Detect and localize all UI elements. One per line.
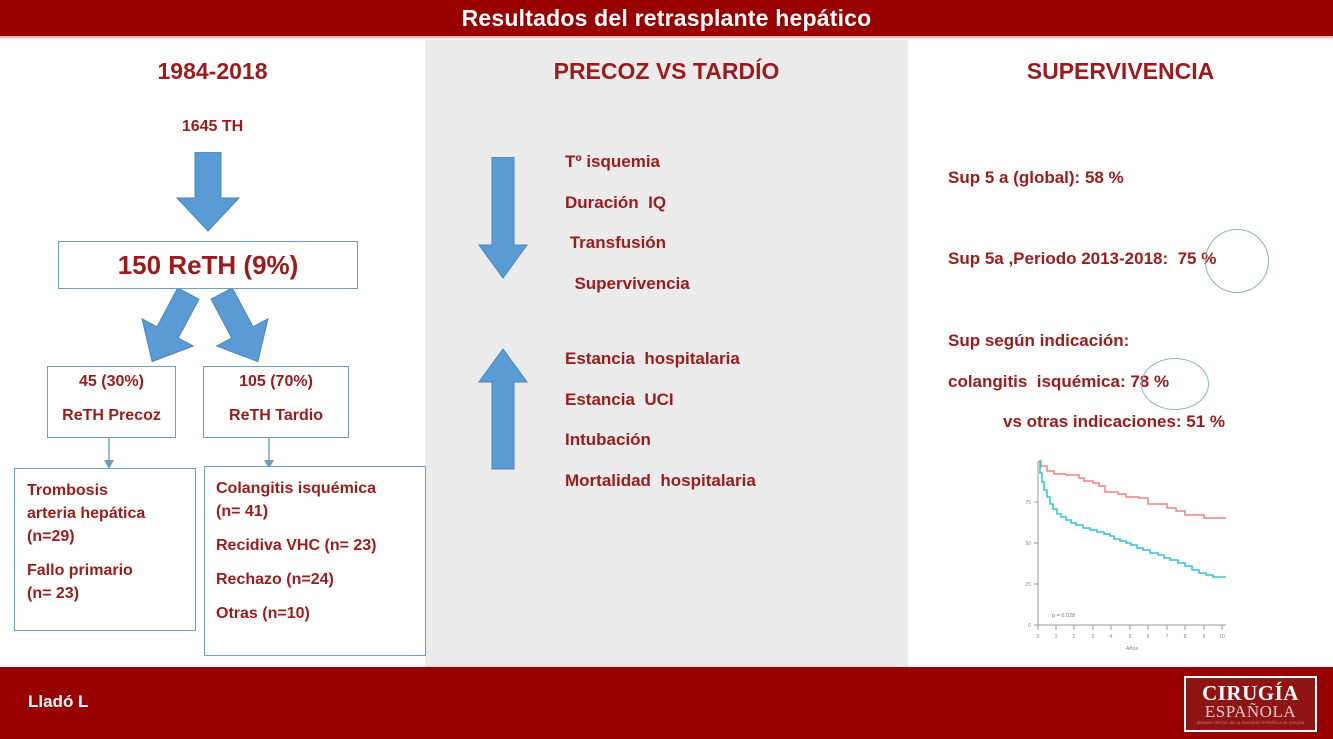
precoz-cause-line: (n= 23) bbox=[27, 582, 185, 605]
logo-line-3: ÓRGANO OFICIAL DE LA SOCIEDAD ESPAÑOLA D… bbox=[1197, 720, 1305, 726]
decrease-parameter-item: Duración IQ bbox=[565, 183, 690, 224]
right-column-heading: SUPERVIVENCIA bbox=[908, 58, 1333, 85]
tardio-cause-line: Rechazo (n=24) bbox=[216, 568, 415, 591]
svg-text:0: 0 bbox=[1037, 634, 1040, 640]
chart-series-colangitis bbox=[1039, 461, 1226, 518]
svg-text:50: 50 bbox=[1025, 541, 1031, 547]
highlight-ellipse-75 bbox=[1205, 229, 1269, 293]
svg-text:1: 1 bbox=[1055, 634, 1058, 640]
tardio-cause-line: (n= 41) bbox=[216, 500, 415, 523]
svg-text:6: 6 bbox=[1147, 634, 1150, 640]
increase-parameter-list: Estancia hospitalaria Estancia UCI Intub… bbox=[565, 339, 756, 501]
svg-text:75: 75 bbox=[1025, 500, 1031, 506]
tardio-cause-line: Recidiva VHC (n= 23) bbox=[216, 534, 415, 557]
survival-colangitis-line: colangitis isquémica: 78 % bbox=[948, 372, 1169, 392]
survival-others-line: vs otras indicaciones: 51 % bbox=[1003, 412, 1225, 432]
connector-arrow-precoz bbox=[102, 438, 116, 470]
reth-tardio-label: ReTH Tardio bbox=[204, 407, 348, 425]
increase-parameter-item: Estancia UCI bbox=[565, 380, 756, 421]
slide-title-bar: Resultados del retrasplante hepático bbox=[0, 0, 1333, 36]
reth-total-box: 150 ReTH (9%) bbox=[58, 241, 358, 289]
tardio-cause-line: Colangitis isquémica bbox=[216, 477, 415, 500]
increase-parameter-item: Estancia hospitalaria bbox=[565, 339, 756, 380]
svg-text:7: 7 bbox=[1166, 634, 1169, 640]
page-title: Resultados del retrasplante hepático bbox=[462, 5, 872, 32]
svg-text:3: 3 bbox=[1092, 634, 1095, 640]
precoz-cause-line: Trombosis bbox=[27, 479, 185, 502]
decrease-parameter-list: Tº isquemia Duración IQ Transfusión Supe… bbox=[565, 142, 690, 304]
reth-total-label: 150 ReTH (9%) bbox=[118, 250, 299, 281]
precoz-cause-line: (n=29) bbox=[27, 525, 185, 548]
reth-precoz-count: 45 (30%) bbox=[48, 373, 175, 391]
left-column-heading: 1984-2018 bbox=[0, 58, 425, 85]
survival-indication-heading: Sup según indicación: bbox=[948, 331, 1129, 351]
down-arrow-decrease bbox=[478, 157, 528, 279]
up-arrow-increase bbox=[478, 348, 528, 470]
reth-precoz-box: 45 (30%) ReTH Precoz bbox=[47, 366, 176, 438]
decrease-parameter-item: Tº isquemia bbox=[565, 142, 690, 183]
precoz-cause-line: arteria hepática bbox=[27, 502, 185, 525]
increase-parameter-item: Mortalidad hospitalaria bbox=[565, 461, 756, 502]
increase-parameter-item: Intubación bbox=[565, 420, 756, 461]
survival-chart-svg: 0 25 50 75 0 1 2 3 4 5 bbox=[1000, 449, 1236, 661]
survival-global-line: Sup 5 a (global): 58 % bbox=[948, 168, 1124, 188]
survival-chart: 0 25 50 75 0 1 2 3 4 5 bbox=[1000, 449, 1236, 661]
total-transplants-label: 1645 TH bbox=[0, 118, 425, 136]
logo-line-2: ESPAÑOLA bbox=[1205, 703, 1296, 720]
cirugia-espanola-logo: CIRUGÍA ESPAÑOLA ÓRGANO OFICIAL DE LA SO… bbox=[1184, 676, 1317, 732]
chart-x-axis-label: Años bbox=[1126, 646, 1139, 652]
chart-series-otras bbox=[1039, 461, 1226, 577]
svg-text:25: 25 bbox=[1025, 582, 1031, 588]
svg-text:2: 2 bbox=[1073, 634, 1076, 640]
chart-pvalue-annotation: p = 0.028 bbox=[1052, 613, 1075, 619]
svg-text:8: 8 bbox=[1184, 634, 1187, 640]
footer-author: Lladó L bbox=[28, 692, 88, 712]
chart-y-ticks: 0 25 50 75 bbox=[1025, 500, 1038, 629]
down-right-branch-arrow bbox=[205, 289, 275, 367]
decrease-parameter-item: Transfusión bbox=[565, 223, 690, 264]
reth-precoz-label: ReTH Precoz bbox=[48, 407, 175, 425]
precoz-cause-line: Fallo primario bbox=[27, 559, 185, 582]
svg-text:10: 10 bbox=[1219, 634, 1225, 640]
reth-tardio-box: 105 (70%) ReTH Tardio bbox=[203, 366, 349, 438]
tardio-cause-line: Otras (n=10) bbox=[216, 602, 415, 625]
down-arrow-main bbox=[175, 152, 241, 232]
highlight-ellipse-78 bbox=[1141, 358, 1209, 410]
logo-line-1: CIRUGÍA bbox=[1202, 683, 1299, 703]
slide-root: Resultados del retrasplante hepático 198… bbox=[0, 0, 1333, 739]
decrease-parameter-item: Supervivencia bbox=[565, 264, 690, 305]
svg-text:4: 4 bbox=[1110, 634, 1113, 640]
svg-text:9: 9 bbox=[1203, 634, 1206, 640]
svg-text:0: 0 bbox=[1028, 623, 1031, 629]
tardio-causes-box: Colangitis isquémica (n= 41) Recidiva VH… bbox=[204, 466, 426, 656]
reth-tardio-count: 105 (70%) bbox=[204, 373, 348, 391]
footer-bar: Lladó L CIRUGÍA ESPAÑOLA ÓRGANO OFICIAL … bbox=[0, 667, 1333, 739]
down-left-branch-arrow bbox=[135, 289, 205, 367]
precoz-causes-box: Trombosis arteria hepática (n=29) Fallo … bbox=[14, 468, 196, 631]
survival-period-line: Sup 5a ,Periodo 2013-2018: 75 % bbox=[948, 249, 1216, 269]
middle-column-heading: PRECOZ VS TARDÍO bbox=[425, 58, 908, 85]
svg-text:5: 5 bbox=[1129, 634, 1132, 640]
chart-x-ticks: 0 1 2 3 4 5 6 7 8 9 10 bbox=[1037, 625, 1225, 640]
